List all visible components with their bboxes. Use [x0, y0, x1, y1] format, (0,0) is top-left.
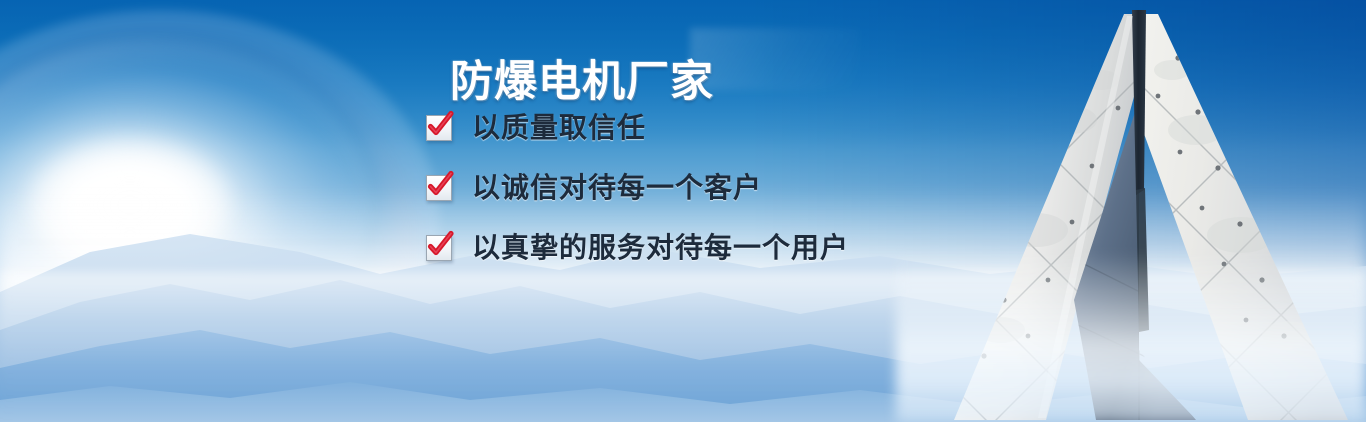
list-item: 以真挚的服务对待每一个用户	[424, 226, 849, 266]
list-item: 以诚信对待每一个客户	[424, 166, 849, 206]
red-check-icon	[424, 111, 454, 141]
list-item-label: 以真挚的服务对待每一个用户	[472, 226, 849, 266]
list-item-label: 以质量取信任	[472, 106, 646, 146]
feature-list: 以质量取信任 以诚信对待每一个客户 以真挚的服务对待每一个用户	[424, 106, 849, 266]
banner-headline: 防爆电机厂家	[450, 57, 714, 108]
list-item: 以质量取信任	[424, 106, 849, 146]
list-item-label: 以诚信对待每一个客户	[472, 166, 762, 206]
red-check-icon	[424, 231, 454, 261]
red-check-icon	[424, 171, 454, 201]
promo-banner: 防爆电机厂家 以质量取信任 以诚信对待每一个客户	[0, 0, 1366, 422]
